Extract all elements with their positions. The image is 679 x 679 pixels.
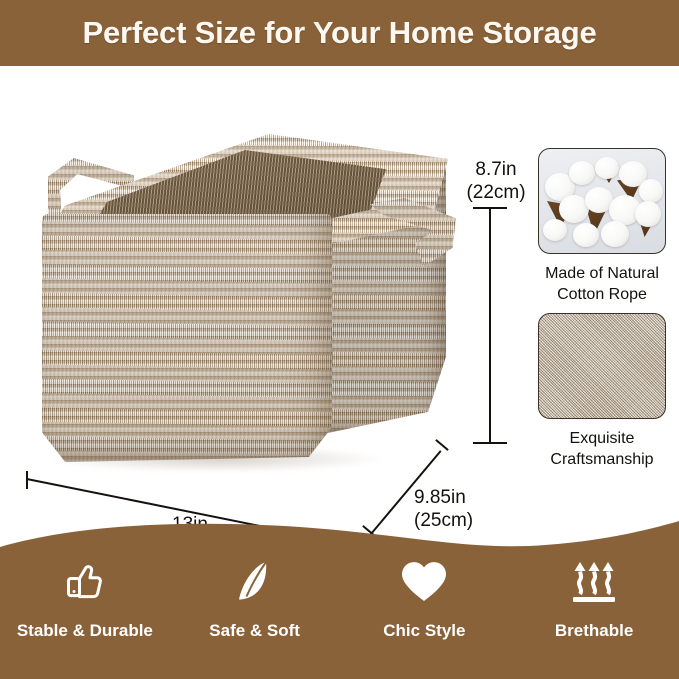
page-title: Perfect Size for Your Home Storage [0,0,679,66]
feature-card-craftsmanship: Exquisite Craftsmanship [534,313,670,470]
footer-label-safe-soft: Safe & Soft [209,621,300,641]
footer-label-stable-durable: Stable & Durable [17,621,153,641]
footer-item-brethable: Brethable [519,555,669,641]
footer-item-stable-durable: Stable & Durable [10,555,160,641]
height-dimension-cap-bottom [473,442,507,444]
footer-item-chic-style: Chic Style [349,555,499,641]
leaf-icon [233,555,277,609]
heart-icon [400,555,448,609]
product-image-area: 8.7in (22cm) 13in (33cm) 9.85in (25cm) [0,66,520,526]
thumbs-up-icon [63,555,107,609]
feature-caption-craftsmanship: Exquisite Craftsmanship [534,428,670,470]
footer-label-chic-style: Chic Style [383,621,465,641]
cotton-bolls-image [538,148,666,254]
footer-item-safe-soft: Safe & Soft [180,555,330,641]
feature-card-cotton: Made of Natural Cotton Rope [534,148,670,305]
footer-band: Stable & Durable Safe & Soft Chic S [0,515,679,679]
infographic-page: Perfect Size for Your Home Storage 8.7in… [0,0,679,679]
footer-feature-list: Stable & Durable Safe & Soft Chic S [0,515,679,679]
basket-front-face [42,214,332,462]
storage-basket-illustration [18,106,458,476]
breathable-icon [570,555,618,609]
footer-label-brethable: Brethable [555,621,633,641]
height-dimension-line [489,208,491,444]
feature-caption-cotton: Made of Natural Cotton Rope [534,263,670,305]
rope-texture-image [538,313,666,419]
